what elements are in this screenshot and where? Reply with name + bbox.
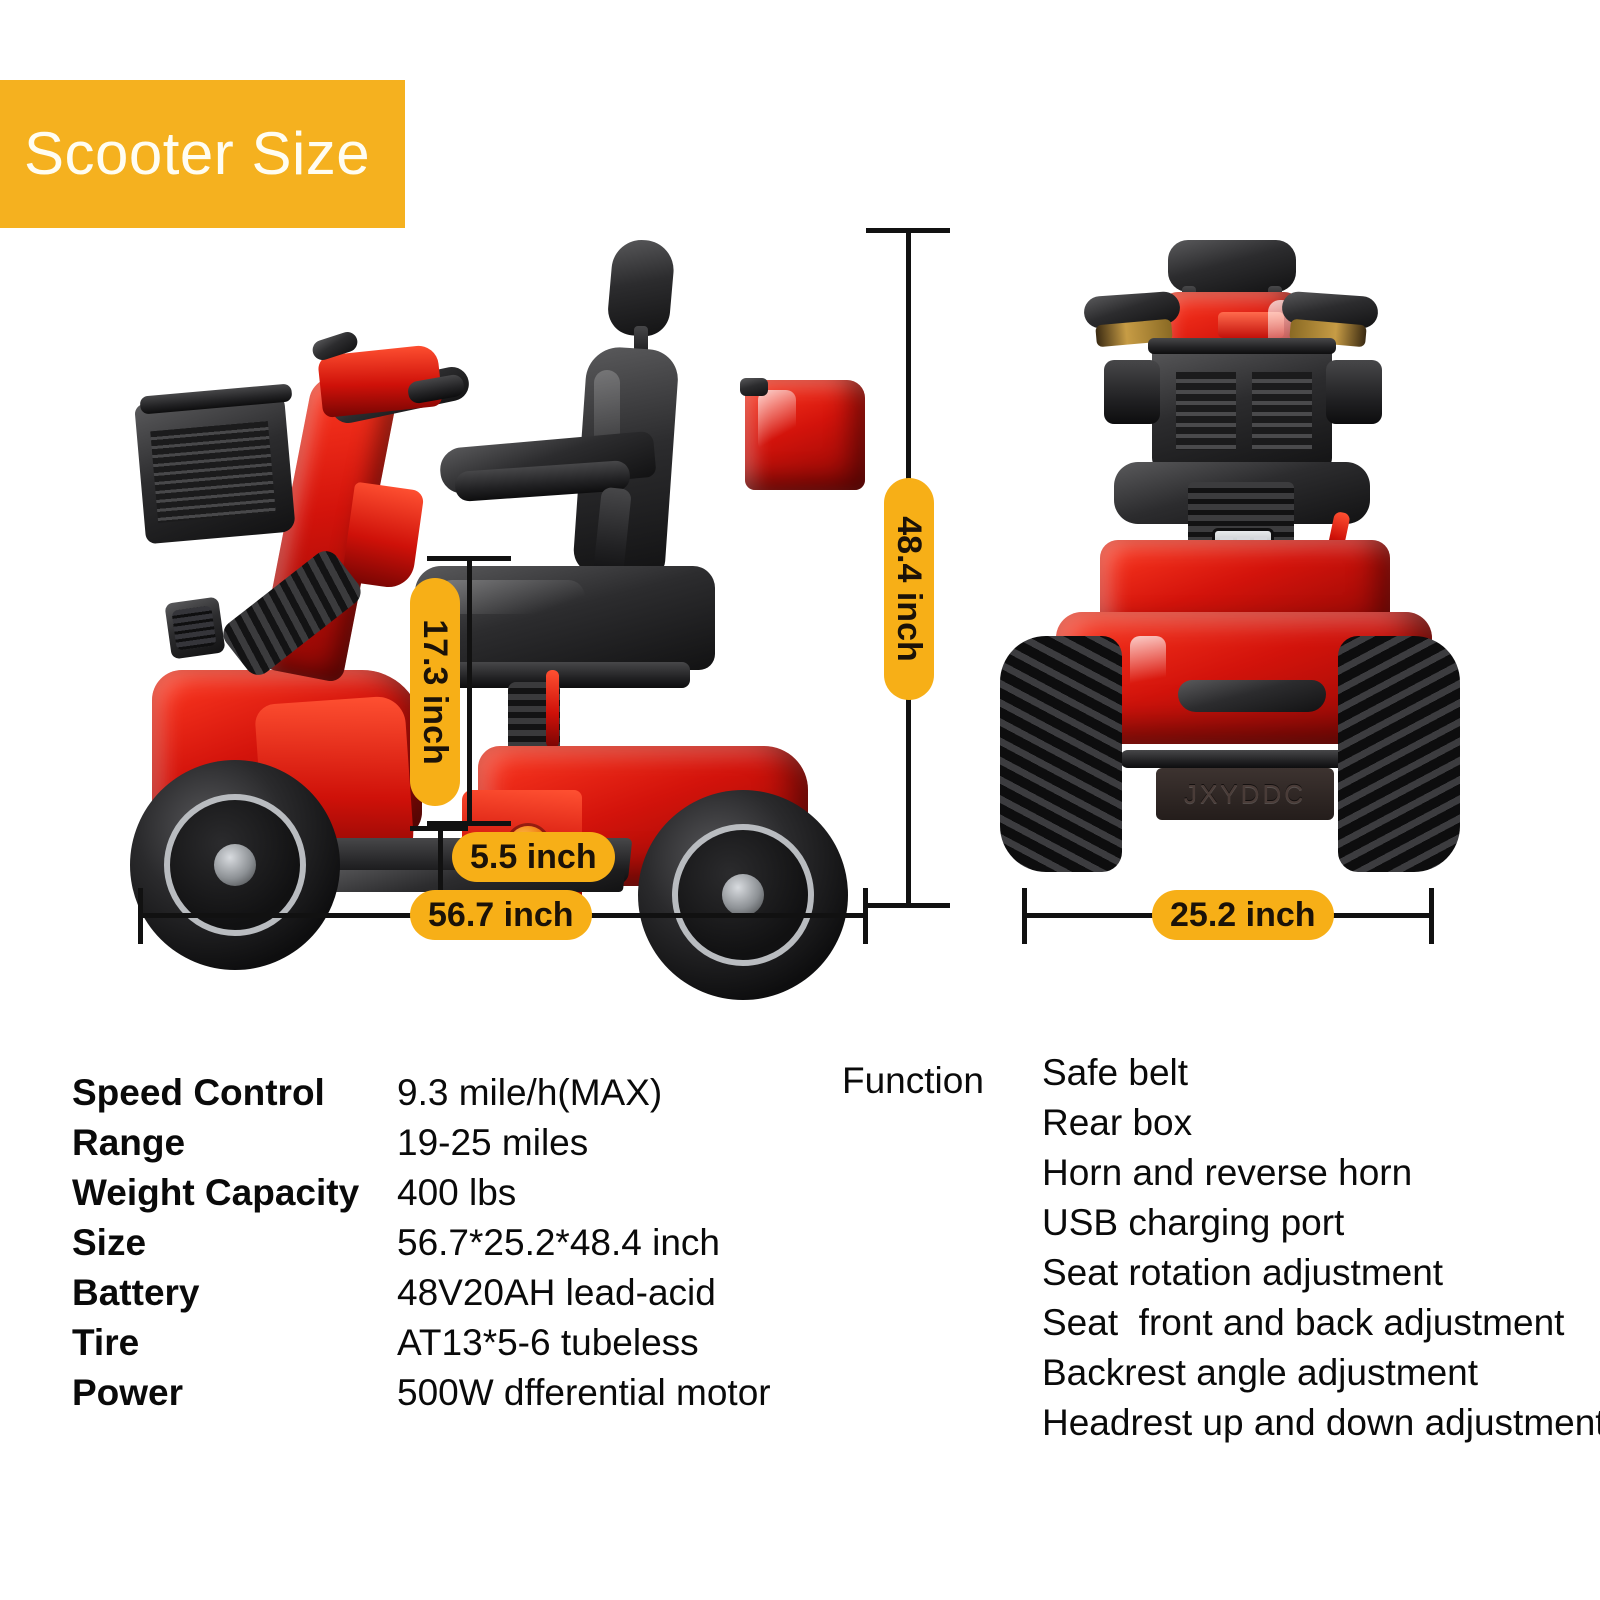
dimline-seat-height: [467, 556, 472, 826]
rear-tire-left: [1000, 636, 1122, 872]
seat-release-lever: [546, 670, 559, 748]
seat-side-right: [1326, 360, 1382, 424]
rear-basket-vents-left: [1176, 372, 1236, 450]
spec-label: Tire: [72, 1322, 397, 1364]
table-row: Power 500W dfferential motor: [72, 1372, 772, 1422]
page-title: Scooter Size: [0, 124, 370, 184]
spec-label: Range: [72, 1122, 397, 1164]
list-item: Seat front and back adjustment: [1042, 1302, 1600, 1352]
rear-basket-rim: [1148, 338, 1336, 354]
badge-overall-length: 56.7 inch: [410, 890, 592, 940]
license-plate: JXYDDC: [1156, 768, 1334, 820]
rear-basket-vents-right: [1252, 372, 1312, 450]
badge-ground-clearance-text: 5.5 inch: [470, 840, 597, 874]
seat-side-left: [1104, 360, 1160, 424]
badge-overall-width-text: 25.2 inch: [1170, 898, 1316, 932]
function-label: Function: [842, 1052, 1042, 1452]
spec-label: Size: [72, 1222, 397, 1264]
spec-value: 19-25 miles: [397, 1122, 588, 1164]
headrest: [606, 237, 676, 338]
spec-value: 48V20AH lead-acid: [397, 1272, 716, 1314]
license-plate-text: JXYDDC: [1184, 779, 1306, 810]
table-row: Speed Control 9.3 mile/h(MAX): [72, 1072, 772, 1122]
function-list: Safe belt Rear box Horn and reverse horn…: [1042, 1052, 1600, 1452]
tiller-shroud: [341, 482, 424, 591]
spec-value: 9.3 mile/h(MAX): [397, 1072, 662, 1114]
list-item: Backrest angle adjustment: [1042, 1352, 1600, 1402]
rear-bumper-pad: [1178, 680, 1326, 712]
badge-seat-height-text: 17.3 inch: [418, 619, 452, 765]
dimline-seat-height-cap-top: [427, 556, 511, 561]
list-item: Seat rotation adjustment: [1042, 1252, 1600, 1302]
rear-headrest: [1168, 240, 1296, 292]
badge-overall-length-text: 56.7 inch: [428, 898, 574, 932]
seat-base-plate: [440, 662, 690, 688]
spec-label: Speed Control: [72, 1072, 397, 1114]
spec-value: 400 lbs: [397, 1172, 516, 1214]
list-item: Horn and reverse horn: [1042, 1152, 1600, 1202]
headlight-lens: [171, 605, 216, 650]
dimline-overall-width-cap-left: [1022, 888, 1027, 944]
list-item: Rear box: [1042, 1102, 1600, 1152]
scooter-side-view: [110, 230, 900, 910]
dimline-overall-width-cap-right: [1429, 888, 1434, 944]
spec-label: Battery: [72, 1272, 397, 1314]
list-item: Safe belt: [1042, 1052, 1600, 1102]
table-row: Size 56.7*25.2*48.4 inch: [72, 1222, 772, 1272]
badge-overall-width: 25.2 inch: [1152, 890, 1334, 940]
dimline-overall-height-cap-top: [866, 228, 950, 233]
dimline-overall-length-cap-right: [863, 888, 868, 944]
table-row: Weight Capacity 400 lbs: [72, 1172, 772, 1222]
rear-body-highlight: [1130, 636, 1166, 694]
badge-overall-height: 48.4 inch: [884, 478, 934, 700]
dimline-overall-length-cap-left: [138, 888, 143, 944]
rear-axle: [1120, 750, 1368, 768]
spec-label: Weight Capacity: [72, 1172, 397, 1214]
rear-box-highlight: [758, 390, 796, 452]
rear-wheel-hub: [722, 874, 764, 916]
dimline-overall-height-cap-bottom: [866, 903, 950, 908]
spec-value: 56.7*25.2*48.4 inch: [397, 1222, 720, 1264]
badge-ground-clearance: 5.5 inch: [452, 832, 615, 882]
scooter-rear-view: JXYDDC: [1000, 240, 1460, 900]
specifications-table: Speed Control 9.3 mile/h(MAX) Range 19-2…: [72, 1072, 772, 1422]
dimline-clearance: [438, 826, 443, 898]
table-row: Range 19-25 miles: [72, 1122, 772, 1172]
section-banner: Scooter Size: [0, 80, 405, 228]
spec-value: AT13*5-6 tubeless: [397, 1322, 699, 1364]
table-row: Tire AT13*5-6 tubeless: [72, 1322, 772, 1372]
table-row: Battery 48V20AH lead-acid: [72, 1272, 772, 1322]
rear-box-mount: [740, 378, 768, 396]
front-basket-vents: [150, 421, 276, 523]
dimline-clearance-cap: [410, 826, 468, 831]
list-item: Headrest up and down adjustment: [1042, 1402, 1600, 1452]
badge-overall-height-text: 48.4 inch: [892, 516, 926, 662]
spec-label: Power: [72, 1372, 397, 1414]
product-spec-page: Scooter Size: [0, 0, 1600, 1600]
rear-tire-right: [1338, 636, 1460, 872]
front-wheel-hub: [214, 844, 256, 886]
badge-seat-height: 17.3 inch: [410, 578, 460, 806]
function-section: Function Safe belt Rear box Horn and rev…: [842, 1052, 1600, 1452]
list-item: USB charging port: [1042, 1202, 1600, 1252]
spec-value: 500W dfferential motor: [397, 1372, 771, 1414]
